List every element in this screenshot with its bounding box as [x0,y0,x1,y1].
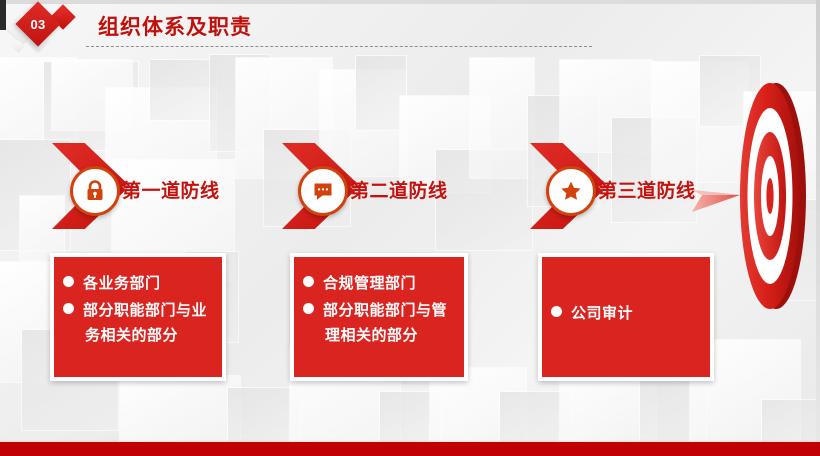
list-item: 各业务部门 [63,271,214,296]
list-item-text: 公司审计 [571,305,633,322]
bottom-accent-bar [0,442,820,456]
slide-canvas: 03 组织体系及职责 第一道防线 第二道防线 [0,0,820,456]
list-item-text: 部分职能部门与业务相关的部分 [83,302,207,344]
list-item-text: 各业务部门 [83,275,161,292]
bullet-icon [551,306,562,317]
list-item: 公司审计 [551,301,702,326]
lock-icon[interactable] [70,166,120,216]
first-line-box[interactable]: 各业务部门 部分职能部门与业务相关的部分 [50,253,226,381]
list-item-text: 部分职能部门与管理相关的部分 [323,302,447,344]
defense-line-label-2: 第二道防线 [350,176,448,203]
list-item: 合规管理部门 [303,271,456,296]
bullet-icon [303,303,314,314]
star-icon[interactable] [546,166,596,216]
list-item: 部分职能部门与业务相关的部分 [63,298,214,348]
bullet-icon [63,303,74,314]
list-item: 部分职能部门与管理相关的部分 [303,298,456,348]
defense-lines-row: 第一道防线 第二道防线 第三道防线 [0,0,820,456]
bullet-icon [303,276,314,287]
defense-line-label-1: 第一道防线 [122,176,220,203]
second-line-list: 合规管理部门 部分职能部门与管理相关的部分 [294,257,464,348]
bullet-icon [63,276,74,287]
dart-arrow-icon [690,176,746,214]
list-item-text: 合规管理部门 [323,275,416,292]
second-line-box[interactable]: 合规管理部门 部分职能部门与管理相关的部分 [290,253,468,381]
third-line-list: 公司审计 [542,257,710,326]
third-line-box[interactable]: 公司审计 [538,253,714,381]
first-line-list: 各业务部门 部分职能部门与业务相关的部分 [54,257,222,348]
chat-bubble-icon[interactable] [298,166,348,216]
defense-line-label-3: 第三道防线 [598,176,696,203]
